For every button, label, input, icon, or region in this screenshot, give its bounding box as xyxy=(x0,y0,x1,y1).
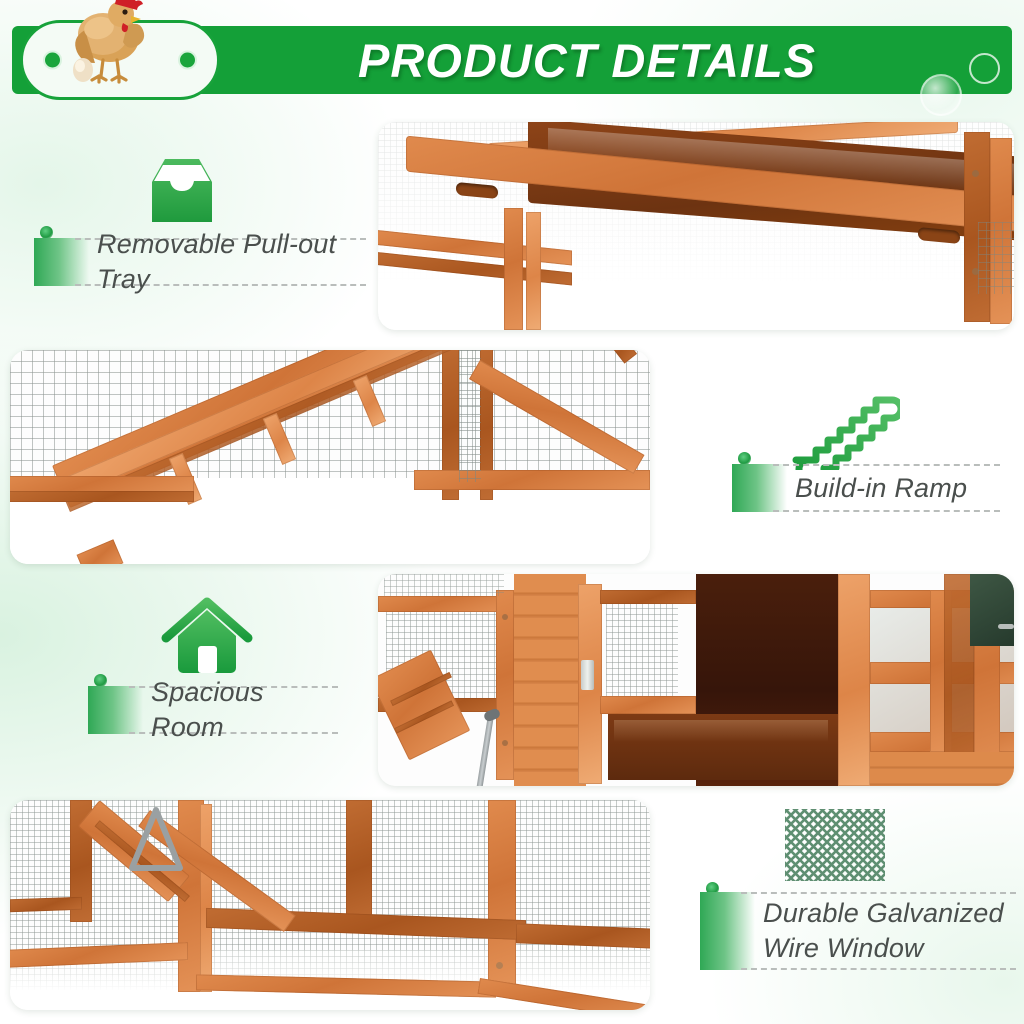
feature-photo-built-in-ramp xyxy=(10,350,650,564)
feature-photo-spacious-room xyxy=(378,574,1014,786)
feature-block-pull-out-tray: Removable Pull-out Tray xyxy=(14,152,366,298)
feature-label-text: Durable Galvanized Wire Window xyxy=(741,890,1004,971)
bubble-large-icon xyxy=(920,74,962,116)
escalator-ramp-icon xyxy=(782,386,900,470)
feature-label-text: Build-in Ramp xyxy=(773,465,967,512)
wire-mesh-icon xyxy=(782,806,888,884)
feature-label-row: Removable Pull-out Tray xyxy=(34,238,366,286)
product-details-infographic: PRODUCT DETAILS xyxy=(0,0,1024,1024)
tray-icon xyxy=(132,152,232,232)
bubble-small-icon xyxy=(969,53,1000,84)
screw-dot-right-icon xyxy=(178,51,197,70)
feature-block-built-in-ramp: Build-in Ramp xyxy=(686,386,1006,526)
feature-label-row: Durable Galvanized Wire Window xyxy=(700,892,1016,970)
feature-label-text: Removable Pull-out Tray xyxy=(75,221,366,302)
feature-label-row: Spacious Room xyxy=(88,686,338,734)
feature-photo-pull-out-tray xyxy=(378,122,1014,330)
feature-label-row: Build-in Ramp xyxy=(732,464,1000,512)
feature-block-spacious-room: Spacious Room xyxy=(64,596,374,746)
feature-photo-galvanized-wire-window xyxy=(10,800,650,1010)
feature-block-galvanized-wire-window: Durable Galvanized Wire Window xyxy=(686,806,1016,976)
home-icon xyxy=(156,596,258,680)
hen-photo-icon xyxy=(55,0,165,86)
feature-label-text: Spacious Room xyxy=(129,669,338,750)
